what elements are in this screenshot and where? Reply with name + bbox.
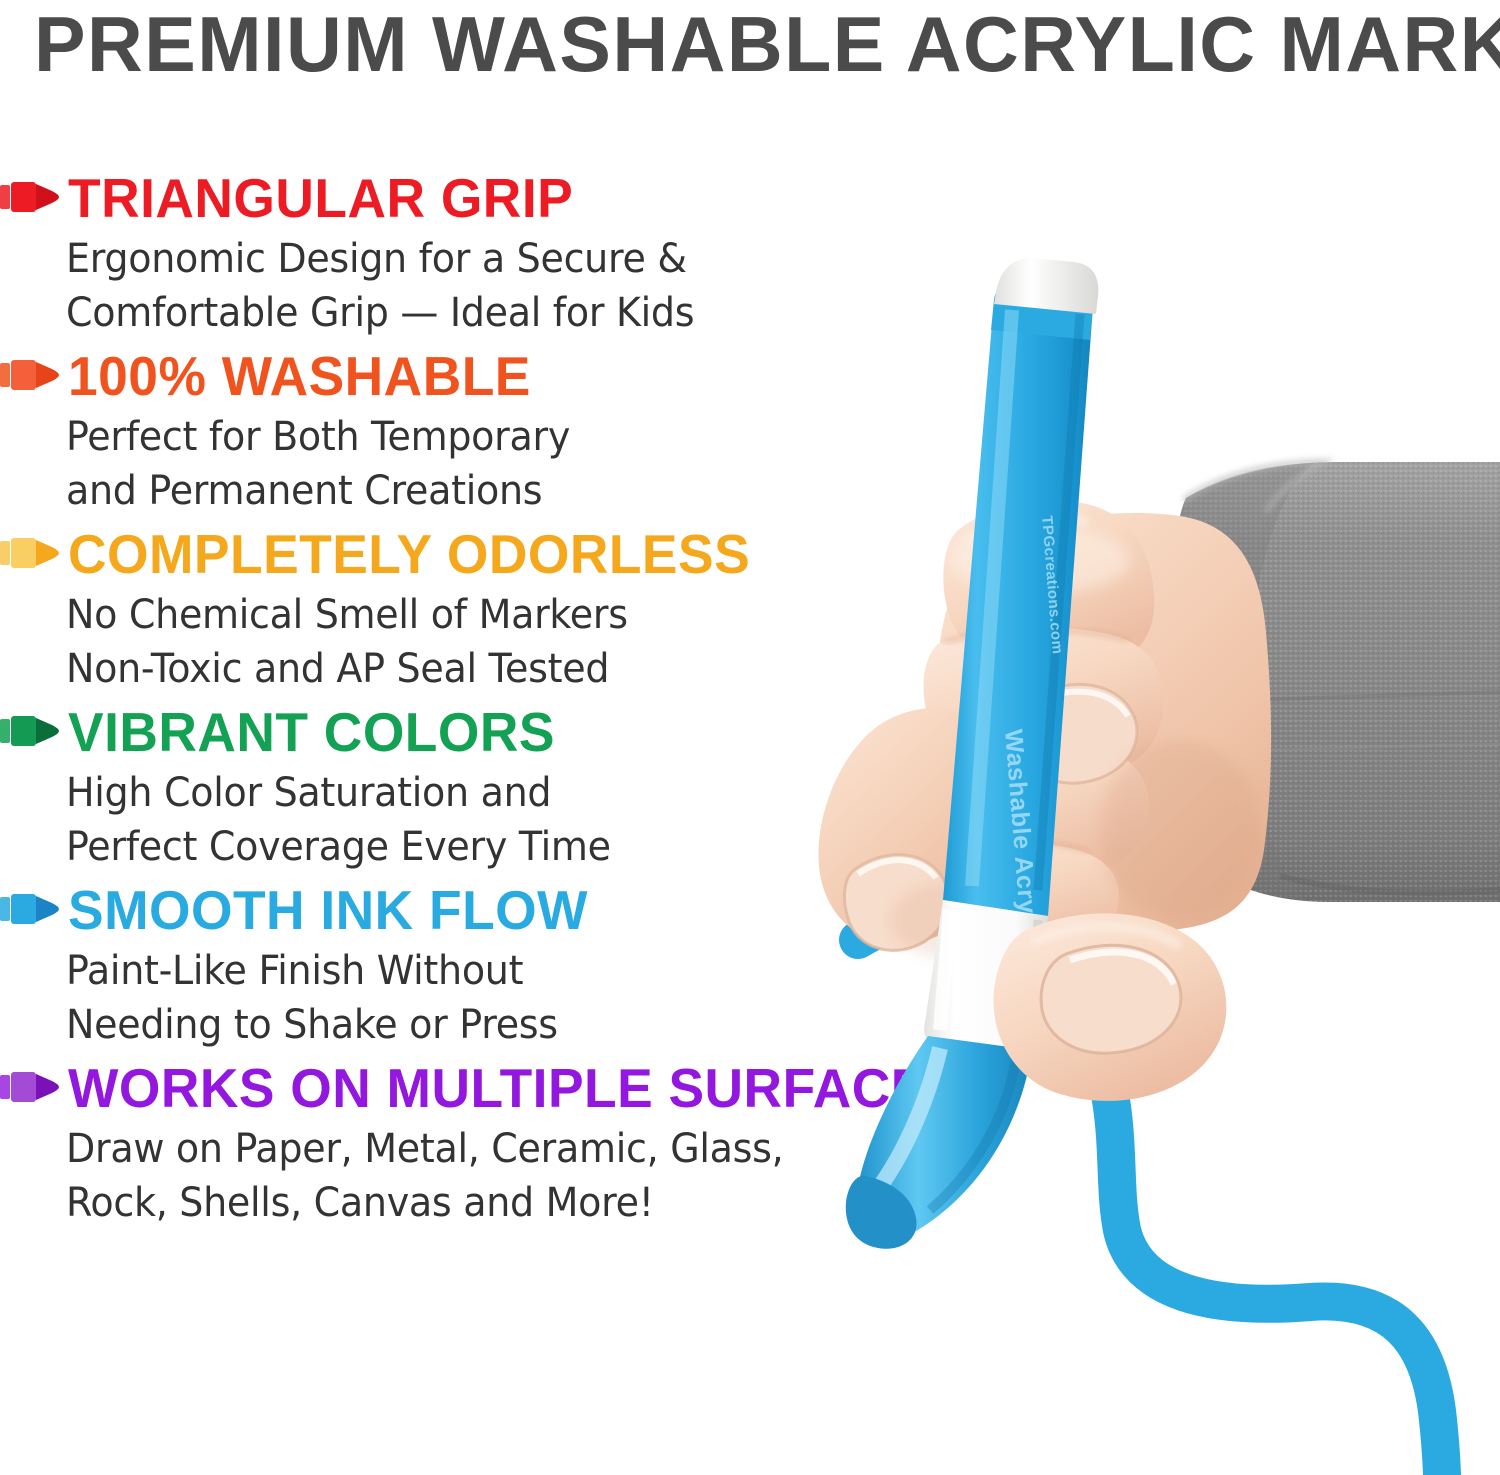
index-finger-front <box>993 913 1226 1101</box>
hand-holding-marker-photo: TPGcreations.com Washable Acrylic <box>780 230 1500 1475</box>
marker-bullet-icon <box>0 534 62 572</box>
marker-bullet-icon <box>0 890 62 928</box>
feature-title: COMPLETELY ODORLESS <box>68 524 750 584</box>
feature-heading-row: TRIANGULAR GRIP <box>0 168 1120 230</box>
feature-title: SMOOTH INK FLOW <box>68 880 588 940</box>
feature-title: TRIANGULAR GRIP <box>68 168 573 228</box>
feature-title: VIBRANT COLORS <box>68 702 555 762</box>
marker-bullet-icon <box>0 356 62 394</box>
marker-bullet-icon <box>0 712 62 750</box>
marker-bullet-icon <box>0 178 62 216</box>
marker-bullet-icon <box>0 1068 62 1106</box>
feature-title: 100% WASHABLE <box>68 346 531 406</box>
page-title: PREMIUM WASHABLE ACRYLIC MARKERS <box>34 0 1479 92</box>
